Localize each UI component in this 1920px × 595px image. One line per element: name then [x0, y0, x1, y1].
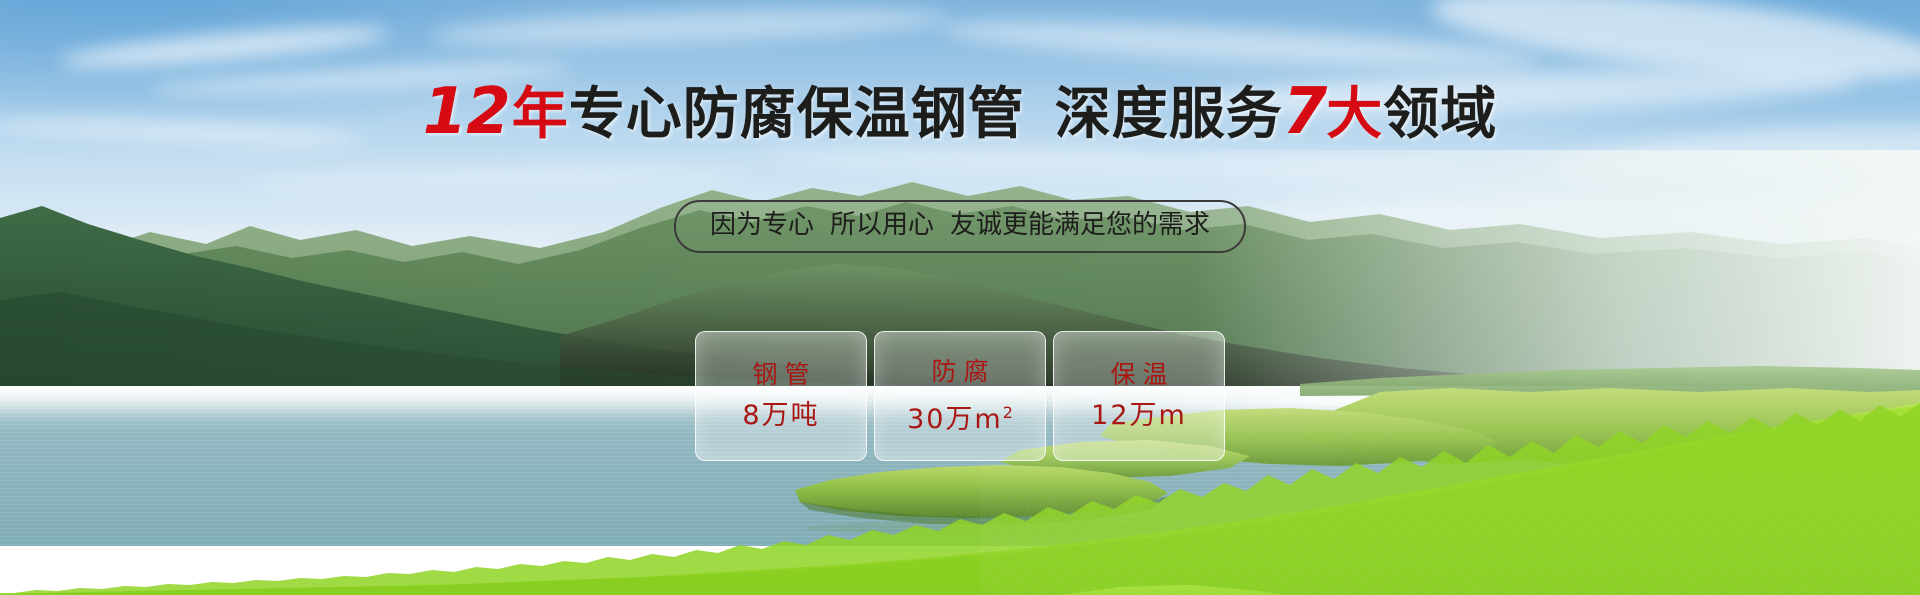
headline-service-text: 深度服务 — [1055, 82, 1283, 147]
stat-card-label: 防腐 — [924, 359, 995, 385]
stat-card-group: 钢管 8万吨 防腐 30万m2 保温 12万m — [695, 331, 1225, 461]
stat-card-label: 保温 — [1103, 362, 1174, 388]
stat-card-label: 钢管 — [745, 362, 816, 388]
stat-card-value-superscript: 2 — [1003, 403, 1013, 422]
subtitle-part-1: 因为专心 — [710, 210, 814, 240]
subtitle-part-3: 友诚更能满足您的需求 — [950, 210, 1210, 240]
stat-card-value-main: 30万m — [907, 404, 1003, 435]
stat-card-anticorrosion[interactable]: 防腐 30万m2 — [874, 331, 1046, 461]
stat-card-value: 8万吨 — [742, 402, 819, 430]
subtitle-pill: 因为专心所以用心友诚更能满足您的需求 — [674, 200, 1246, 253]
stat-card-value: 30万m2 — [907, 399, 1013, 434]
stat-card-value-main: 12万m — [1091, 400, 1187, 431]
stat-card-insulation[interactable]: 保温 12万m — [1053, 331, 1225, 461]
stat-card-value-main: 8万吨 — [742, 400, 819, 431]
headline-main-text: 专心防腐保温钢管 — [569, 82, 1025, 147]
stat-card-steel-pipe[interactable]: 钢管 8万吨 — [695, 331, 867, 461]
headline-fields-tail: 领域 — [1383, 82, 1497, 147]
stat-card-value: 12万m — [1091, 402, 1187, 430]
subtitle-part-2: 所以用心 — [830, 210, 934, 240]
headline-years-unit: 年 — [512, 82, 569, 147]
headline: 12年专心防腐保温钢管深度服务7大领域 — [0, 82, 1920, 145]
headline-years-number: 12 — [423, 75, 510, 149]
promo-banner: 12年专心防腐保温钢管深度服务7大领域 因为专心所以用心友诚更能满足您的需求 钢… — [0, 0, 1920, 595]
headline-fields-unit: 大 — [1326, 82, 1383, 147]
headline-fields-number: 7 — [1283, 75, 1327, 149]
